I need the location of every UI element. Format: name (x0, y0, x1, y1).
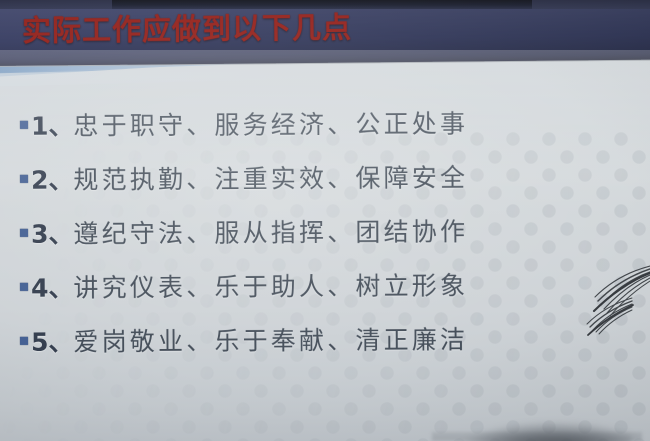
presentation-slide-photo: 实际工作应做到以下几点 1、 忠于职守、服务经济、公正处事 2、 规范执勤、注重… (0, 0, 650, 441)
list-item-label: 遵纪守法、服从指挥、团结协作 (73, 212, 468, 250)
list-item-label: 忠于职守、服务经济、公正处事 (73, 104, 468, 142)
list-item: 1、 忠于职守、服务经济、公正处事 (0, 94, 650, 152)
list-item-number: 3、 (31, 215, 74, 251)
list-item-number: 1、 (31, 107, 74, 143)
bullet-list: 1、 忠于职守、服务经济、公正处事 2、 规范执勤、注重实效、保障安全 3、 遵… (0, 96, 650, 366)
list-item-number: 5、 (31, 323, 74, 359)
square-bullet-icon (20, 175, 28, 183)
list-item-label: 规范执勤、注重实效、保障安全 (73, 158, 468, 196)
list-item-label: 讲究仪表、乐于助人、树立形象 (73, 266, 468, 304)
photo-top-edge (0, 0, 650, 9)
square-bullet-icon (20, 229, 28, 237)
list-item-number: 4、 (31, 269, 74, 305)
list-item: 3、 遵纪守法、服从指挥、团结协作 (0, 202, 650, 260)
list-item: 2、 规范执勤、注重实效、保障安全 (0, 148, 650, 206)
list-item-label: 爱岗敬业、乐于奉献、清正廉洁 (73, 320, 468, 358)
list-item-number: 2、 (31, 161, 74, 197)
square-bullet-icon (20, 337, 28, 345)
list-item: 5、 爱岗敬业、乐于奉献、清正廉洁 (0, 310, 650, 368)
slide-title: 实际工作应做到以下几点 (22, 10, 352, 47)
square-bullet-icon (20, 283, 28, 291)
square-bullet-icon (20, 121, 28, 129)
list-item: 4、 讲究仪表、乐于助人、树立形象 (0, 256, 650, 314)
